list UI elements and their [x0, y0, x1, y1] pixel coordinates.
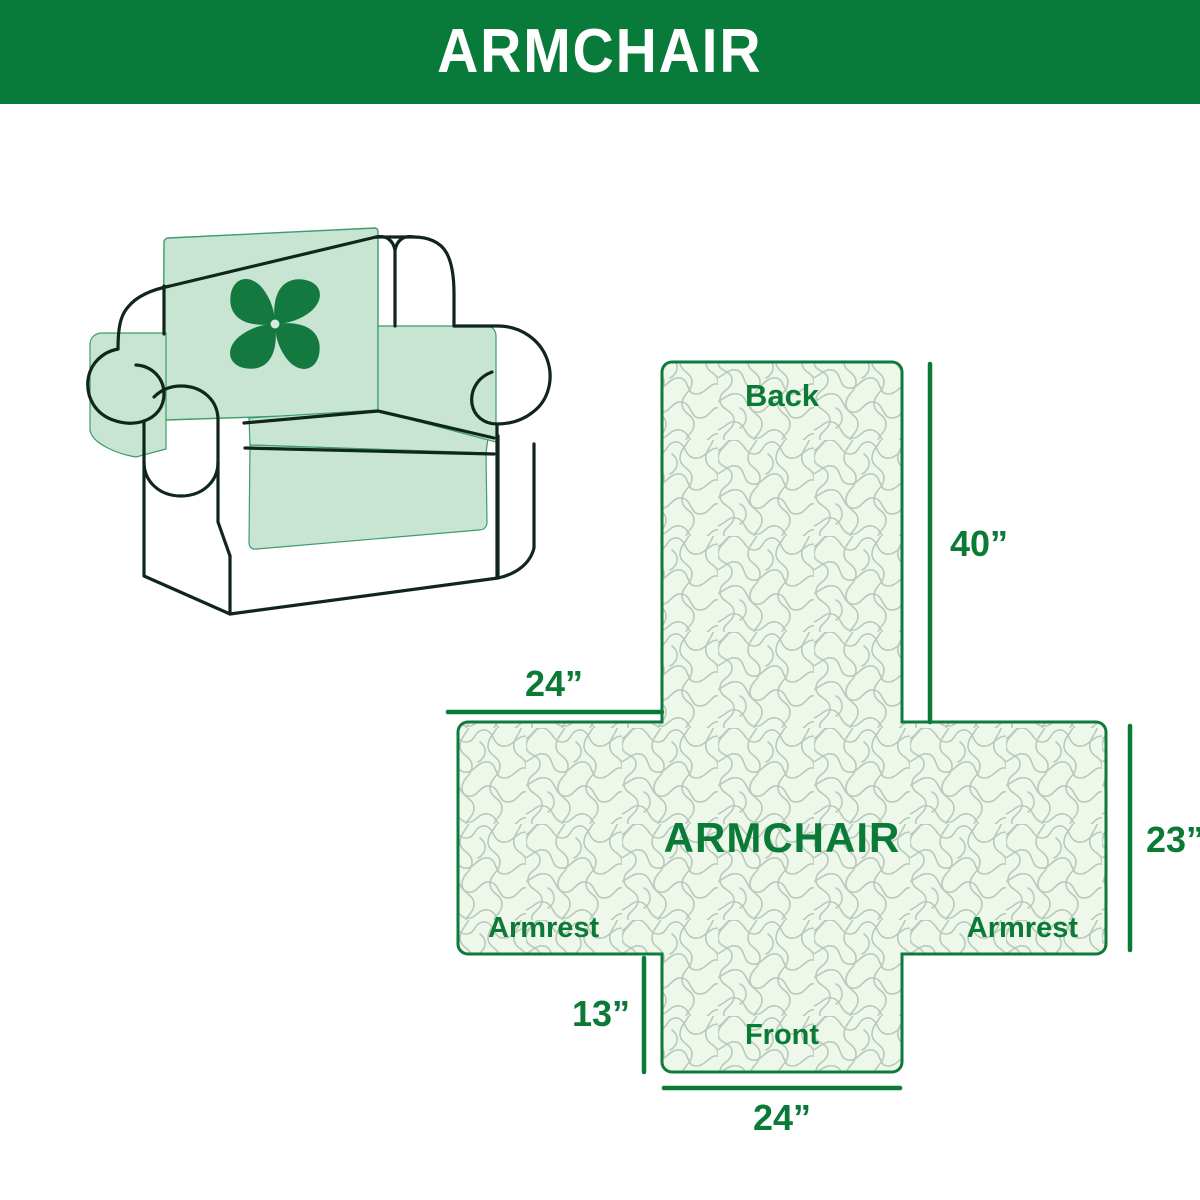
dimension-back-height: 40” — [930, 364, 1008, 722]
dimension-front-width-value: 24” — [753, 1097, 811, 1138]
page-title: ARMCHAIR — [437, 21, 762, 83]
panel-label-center: ARMCHAIR — [664, 814, 901, 861]
dimension-armrest-width: 24” — [448, 663, 662, 712]
header-banner: ARMCHAIR — [0, 0, 1200, 104]
panel-label-back: Back — [745, 378, 820, 413]
dimension-front-width: 24” — [664, 1088, 900, 1138]
panel-label-armrest-right: Armrest — [967, 912, 1079, 944]
dimension-armrest-width-value: 24” — [525, 663, 583, 704]
dimension-body-height-value: 23” — [1146, 819, 1200, 860]
panel-label-armrest-left: Armrest — [488, 912, 600, 944]
panel-label-front: Front — [745, 1019, 819, 1051]
pattern-cross-diagram: Back ARMCHAIR Armrest Armrest Front 40” … — [430, 344, 1200, 1144]
dimension-front-height: 13” — [572, 958, 644, 1072]
dimension-body-height: 23” — [1130, 726, 1200, 950]
dimension-back-height-value: 40” — [950, 523, 1008, 564]
diagram-canvas: Back ARMCHAIR Armrest Armrest Front 40” … — [0, 104, 1200, 1200]
cover-cross-shape — [458, 362, 1106, 1072]
dimension-front-height-value: 13” — [572, 993, 630, 1034]
